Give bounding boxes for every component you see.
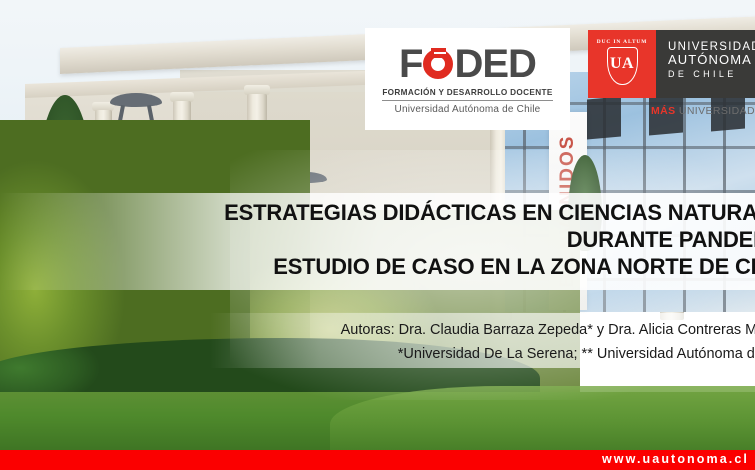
slide-title-line3: ESTUDIO DE CASO EN LA ZONA NORTE DE CHIL…	[0, 253, 755, 280]
authors-line1: Autoras: Dra. Claudia Barraza Zepeda* y …	[0, 318, 755, 342]
presentation-slide: BIENVENIDOS F DED FORMA	[0, 0, 755, 470]
slide-title: ESTRATEGIAS DIDÁCTICAS EN CIENCIAS NATUR…	[0, 199, 755, 280]
universidad-autonoma-logo: DUC IN ALTUM UA UNIVERSIDAD AUTÓNOMA DE …	[588, 30, 755, 98]
ua-shield-badge: DUC IN ALTUM UA	[588, 30, 656, 98]
slide-title-line2: DURANTE PANDEMIA:	[0, 226, 755, 253]
authors-block: Autoras: Dra. Claudia Barraza Zepeda* y …	[0, 318, 755, 366]
lamp-head	[110, 93, 162, 107]
window-louvre	[587, 97, 621, 140]
foded-wordmark-f: F	[399, 44, 422, 84]
foded-o-icon	[423, 48, 453, 79]
foded-wordmark-ded: DED	[454, 44, 535, 84]
ua-tagline: MÁS UNIVERSIDAD	[588, 105, 755, 117]
ua-tagline-strong: MÁS	[651, 105, 676, 117]
ua-tagline-rest: UNIVERSIDAD	[676, 105, 755, 117]
foded-logo: F DED FORMACIÓN Y DESARROLLO DOCENTE Uni…	[365, 28, 570, 130]
foded-subtitle: FORMACIÓN Y DESARROLLO DOCENTE	[382, 88, 552, 101]
ua-motto: DUC IN ALTUM	[588, 39, 656, 45]
ua-name-line3: DE CHILE	[668, 68, 755, 80]
footer-website-url[interactable]: www.uautonoma.cl	[602, 452, 749, 466]
authors-affiliations: *Universidad De La Serena; ** Universida…	[0, 342, 755, 366]
ua-name-line2: AUTÓNOMA	[668, 53, 755, 67]
foded-institution: Universidad Autónoma de Chile	[395, 104, 541, 115]
ua-name-block: UNIVERSIDAD AUTÓNOMA DE CHILE	[656, 30, 755, 98]
ua-initials: UA	[588, 55, 656, 73]
foded-wordmark: F DED	[399, 44, 536, 84]
slide-title-line1: ESTRATEGIAS DIDÁCTICAS EN CIENCIAS NATUR…	[0, 199, 755, 226]
